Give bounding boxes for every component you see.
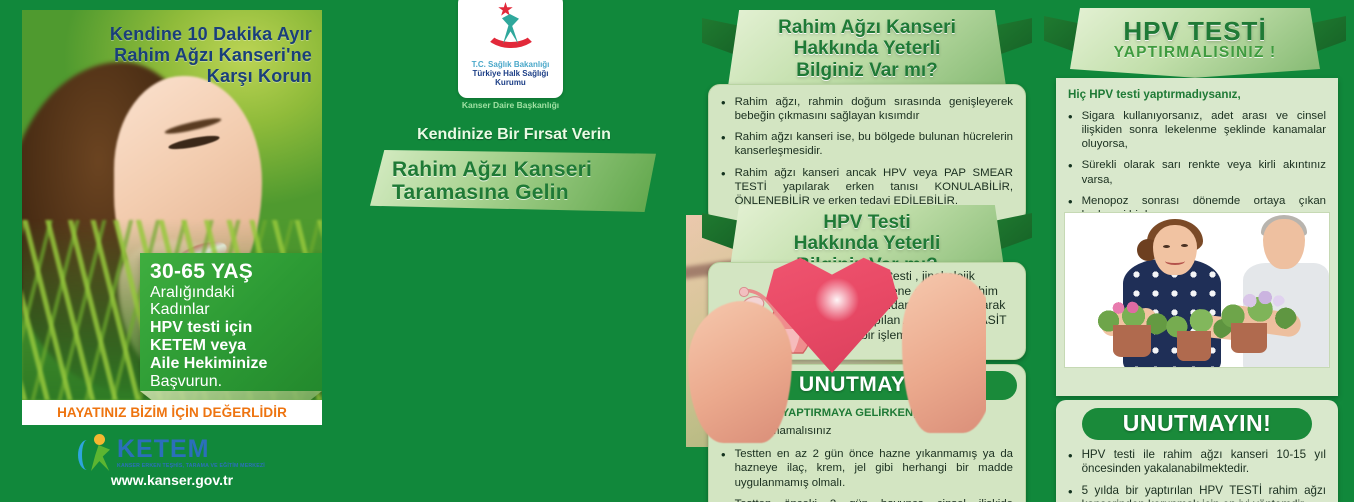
bullet-text: Testten önceki 2 gün boyunca cinsel iliş… [735, 497, 1013, 502]
reminder-card-panel4: UNUTMAYIN! • HPV testi ile rahim ağzı ka… [1056, 400, 1338, 502]
risk-factors-card: Hiç HPV testi yaptırmadıysanız, • Sigara… [1056, 78, 1338, 396]
flower-pink [1111, 301, 1141, 315]
bullet-text: HPV testi ile rahim ağzı kanseri 10-15 y… [1082, 448, 1326, 477]
hpv-test-header: HPV TESTİ YAPTIRMALISINIZ ! [1044, 8, 1346, 81]
panel-call-to-action: HPV TESTİ YAPTIRMALISINIZ ! Hiç HPV test… [1040, 0, 1354, 502]
bullet-dot: • [721, 497, 726, 502]
ministry-emblem-icon [458, 0, 563, 60]
bullet-text: Sürekli olarak sarı renkte veya kirli ak… [1082, 158, 1326, 186]
woman-eye-right [1181, 244, 1188, 247]
poster-root: Kendine 10 Dakika Ayır Rahim Ağzı Kanser… [0, 0, 1354, 502]
woman-smile [1165, 257, 1185, 265]
age-range: 30-65 YAŞ [150, 260, 314, 284]
age-line-7: Başvurun. [150, 373, 314, 391]
age-line-4: HPV testi için [150, 319, 314, 337]
age-callout-box: 30-65 YAŞ Aralığındaki Kadınlar HPV test… [140, 253, 322, 391]
paper-fold-decoration [140, 391, 322, 400]
bullet-dot: • [1068, 109, 1073, 151]
slogan-band: HAYATINIZ BİZİM İÇİN DEĞERLİDİR [22, 400, 322, 425]
panel-invitation: T.C. Sağlık Bakanlığı Türkiye Halk Sağlı… [340, 0, 688, 502]
bullet-text: Rahim ağzı kanseri ancak HPV veya PAP SM… [735, 166, 1013, 208]
ketem-logo-block: KETEM KANSER ERKEN TEŞHİS, TARAMA VE EĞİ… [22, 428, 322, 498]
woman-eye-left [1163, 245, 1170, 248]
panel2-pretitle: Kendinize Bir Fırsat Verin [340, 126, 688, 144]
panel1-headline: Kendine 10 Dakika Ayır Rahim Ağzı Kanser… [72, 24, 312, 87]
flower-pot-2 [1177, 331, 1211, 361]
bullet-text: Sigara kullanıyorsanız, adet arası ve ci… [1082, 109, 1326, 151]
headline-line-1: Kendine 10 Dakika Ayır [72, 24, 312, 45]
ketem-name: KETEM [117, 437, 265, 462]
list-item: • Sigara kullanıyorsanız, adet arası ve … [1068, 109, 1326, 151]
s1-title-3: Bilginiz Var mı? [734, 60, 1000, 81]
photo-right-hand [902, 273, 986, 433]
bullet-dot: • [721, 447, 726, 489]
bullet-dot: • [721, 95, 726, 123]
woman-face [1153, 225, 1197, 275]
screening-banner: Rahim Ağzı Kanseri Taramasına Gelin [370, 150, 656, 212]
s2-title-2: Hakkında Yeterli [734, 233, 1000, 254]
age-line-2: Aralığındaki [150, 284, 314, 302]
hpv-test-title: HPV TESTİ [1076, 18, 1314, 44]
bullet-text: Rahim ağzı kanseri ise, bu bölgede bulun… [735, 130, 1013, 158]
panel-awareness: Kendine 10 Dakika Ayır Rahim Ağzı Kanser… [0, 0, 340, 502]
bullet-text: 5 yılda bir yaptırılan HPV TESTİ rahim a… [1082, 484, 1326, 502]
list-item: • Rahim ağzı kanseri ise, bu bölgede bul… [721, 130, 1013, 158]
list-item: • Testten önceki 2 gün boyunca cinsel il… [721, 497, 1013, 502]
ministry-line-1: T.C. Sağlık Bakanlığı [458, 60, 563, 69]
photo-left-hand [688, 301, 792, 443]
ministry-department-label: Kanser Daire Başkanlığı [458, 100, 563, 110]
list-item: • HPV testi ile rahim ağzı kanseri 10-15… [1068, 448, 1326, 477]
list-item: • Rahim ağzı kanseri ancak HPV veya PAP … [721, 166, 1013, 208]
ketem-tagline: KANSER ERKEN TEŞHİS, TARAMA VE EĞİTİM ME… [117, 463, 265, 469]
ketem-logo: KETEM KANSER ERKEN TEŞHİS, TARAMA VE EĞİ… [78, 434, 265, 472]
man-face [1263, 219, 1305, 269]
s2-title-1: HPV Testi [734, 212, 1000, 233]
elderly-couple-photo [1064, 212, 1330, 368]
ketem-website-link[interactable]: www.kanser.gov.tr [22, 472, 322, 488]
flower-pot-1 [1113, 325, 1151, 357]
s1-title-1: Rahim Ağzı Kanseri [734, 17, 1000, 38]
s1-title-2: Hakkında Yeterli [734, 38, 1000, 59]
risk-factors-lead: Hiç HPV testi yaptırmadıysanız, [1068, 88, 1326, 101]
ribbon-text: Rahim Ağzı Kanseri Hakkında Yeterli Bilg… [734, 17, 1000, 81]
banner-line-2: Taramasına Gelin [392, 181, 642, 204]
banner-line-1: Rahim Ağzı Kanseri [392, 158, 642, 181]
ministry-of-health-logo: T.C. Sağlık Bakanlığı Türkiye Halk Sağlı… [458, 0, 563, 98]
hpv-test-subtitle: YAPTIRMALISINIZ ! [1076, 44, 1314, 63]
ketem-figure-icon [78, 434, 114, 472]
flower-violet [1241, 291, 1285, 309]
screening-banner-text: Rahim Ağzı Kanseri Taramasına Gelin [392, 158, 642, 204]
headline-line-2: Rahim Ağzı Kanseri'ne [72, 45, 312, 66]
flower-pot-3 [1231, 323, 1267, 353]
ketem-wordmark: KETEM KANSER ERKEN TEŞHİS, TARAMA VE EĞİ… [117, 437, 265, 469]
ministry-line-2b: Kurumu [495, 78, 526, 87]
slogan-text: HAYATINIZ BİZİM İÇİN DEĞERLİDİR [57, 405, 287, 420]
bullet-dot: • [1068, 158, 1073, 186]
bullet-dot: • [1068, 448, 1073, 477]
bullet-dot: • [721, 166, 726, 208]
age-line-5: KETEM veya [150, 337, 314, 355]
reminder-heading: UNUTMAYIN! [1082, 408, 1312, 440]
bullet-dot: • [721, 130, 726, 158]
ministry-line-2a: Türkiye Halk Sağlığı [472, 69, 548, 78]
list-item: • Rahim ağzı, rahmin doğum sırasında gen… [721, 95, 1013, 123]
age-line-3: Kadınlar [150, 301, 314, 319]
headline-line-3: Karşı Korun [72, 66, 312, 87]
heart-sparkle [814, 277, 860, 323]
list-item: • Sürekli olarak sarı renkte veya kirli … [1068, 158, 1326, 186]
woman-photo: Kendine 10 Dakika Ayır Rahim Ağzı Kanser… [22, 10, 322, 400]
ministry-line-2: Türkiye Halk Sağlığı Kurumu [458, 69, 563, 87]
list-item: • Testten en az 2 gün önce hazne yıkanma… [721, 447, 1013, 489]
bullet-text: Rahim ağzı, rahmin doğum sırasında geniş… [735, 95, 1013, 123]
age-line-6: Aile Hekiminize [150, 355, 314, 373]
cervical-cancer-bullet-card: • Rahim ağzı, rahmin doğum sırasında gen… [708, 84, 1026, 223]
bullet-text: Testten en az 2 gün önce hazne yıkanmamı… [735, 447, 1013, 489]
bullet-dot: • [1068, 484, 1073, 502]
list-item: • 5 yılda bir yaptırılan HPV TESTİ rahim… [1068, 484, 1326, 502]
ribbon-banner: HPV TESTİ YAPTIRMALISINIZ ! [1070, 8, 1320, 81]
